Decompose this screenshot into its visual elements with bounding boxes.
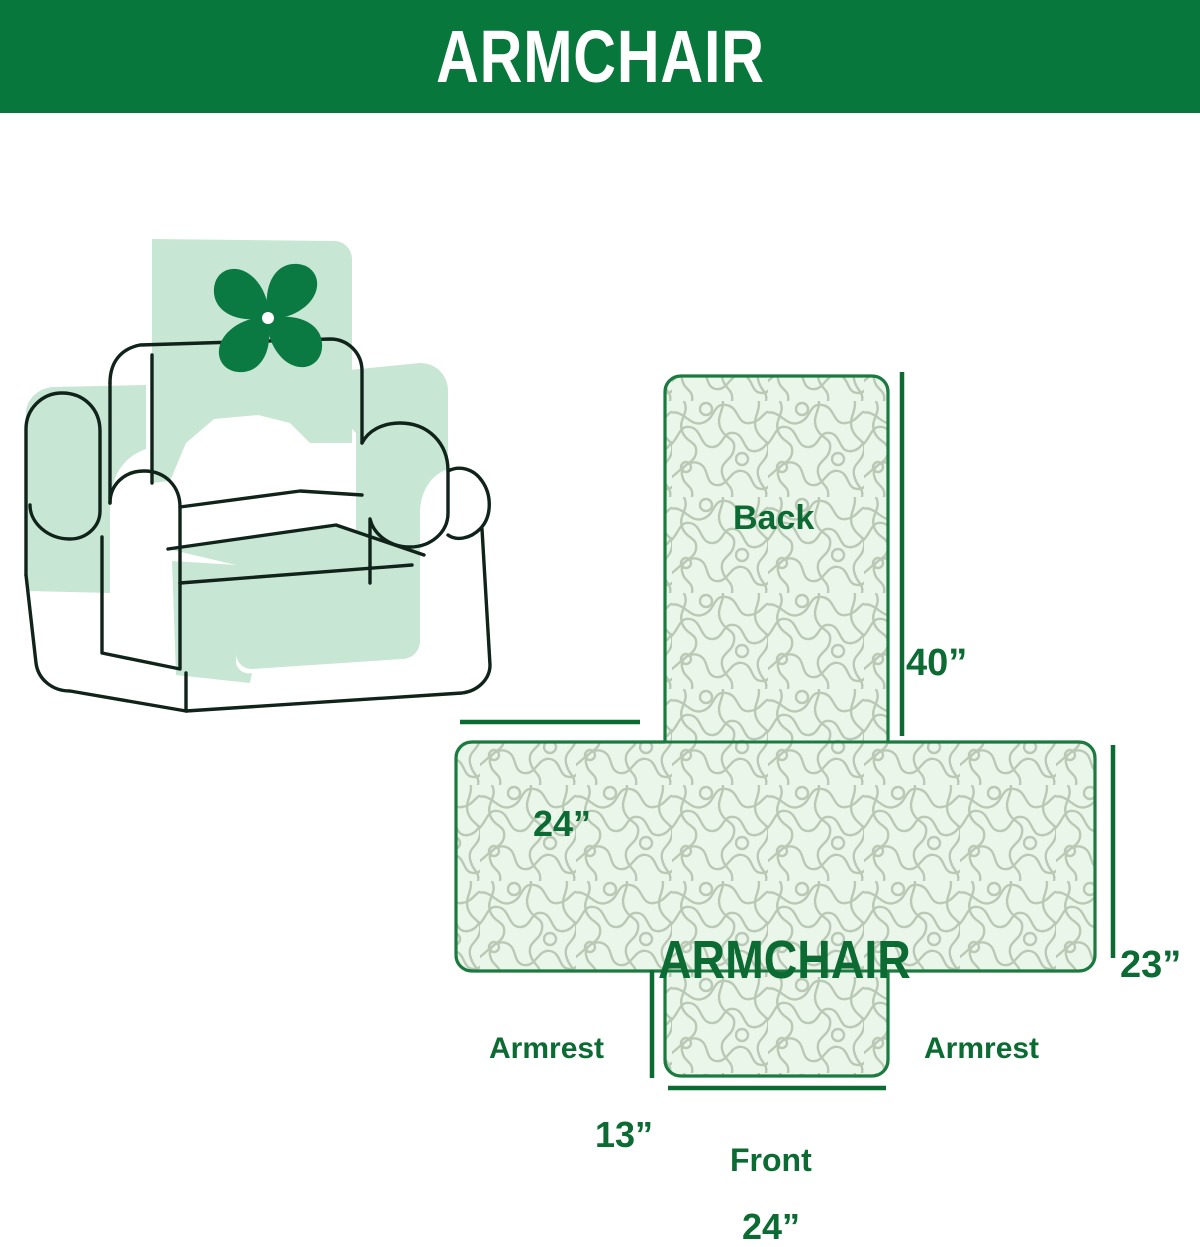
pattern-label-back: Back — [733, 501, 814, 535]
armchair-illustration — [26, 239, 490, 711]
dimension-label-front-width: 24” — [742, 1209, 800, 1245]
armchair-left-arm-panel — [26, 385, 146, 593]
armchair-outline-left-arm-inner — [110, 471, 180, 583]
pattern-label-center: ARMCHAIR — [658, 933, 911, 987]
dimension-label-back-height: 40” — [906, 644, 967, 682]
pattern-back-section — [665, 376, 888, 742]
page-title: ARMCHAIR — [436, 20, 765, 94]
armchair-outline-left-side-seam — [102, 537, 180, 669]
dimension-label-seat-depth: 23” — [1120, 946, 1181, 984]
pattern-label-armrest-left: Armrest — [489, 1034, 604, 1064]
armchair-outline-back-bottom — [180, 491, 362, 507]
diagram-canvas: Back ARMCHAIR Armrest Armrest Front 40” … — [0, 113, 1200, 1200]
dimension-label-front-height: 13” — [595, 1117, 653, 1153]
dimension-label-back-width: 24” — [533, 806, 591, 842]
armchair-outline-left-base — [26, 575, 186, 711]
pattern-label-front: Front — [730, 1144, 812, 1176]
header-banner: ARMCHAIR — [0, 0, 1200, 113]
pattern-label-armrest-right: Armrest — [924, 1034, 1039, 1064]
